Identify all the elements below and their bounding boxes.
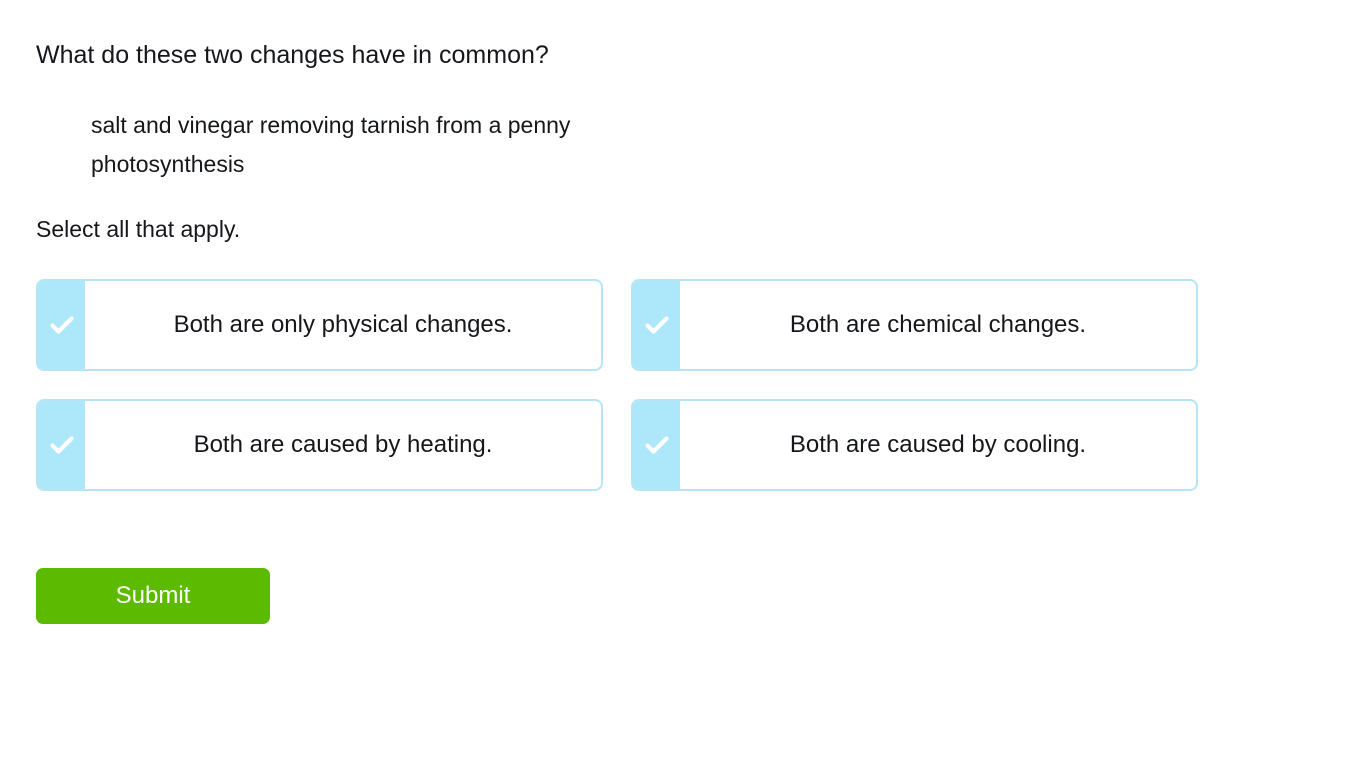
option-card-caused-by-cooling[interactable]: Both are caused by cooling.	[631, 399, 1198, 491]
changes-list: salt and vinegar removing tarnish from a…	[91, 106, 991, 184]
checkbox-indicator[interactable]	[38, 401, 85, 489]
options-grid: Both are only physical changes. Both are…	[36, 279, 1196, 491]
check-icon	[643, 311, 671, 339]
option-card-chemical-changes[interactable]: Both are chemical changes.	[631, 279, 1198, 371]
quiz-page: What do these two changes have in common…	[0, 0, 1366, 768]
option-label: Both are caused by heating.	[194, 431, 493, 459]
option-label: Both are chemical changes.	[790, 311, 1086, 339]
option-row: Both are only physical changes. Both are…	[36, 279, 1196, 371]
option-label: Both are only physical changes.	[174, 311, 513, 339]
checkbox-indicator[interactable]	[38, 281, 85, 369]
option-label-area: Both are caused by heating.	[85, 401, 601, 489]
list-item: photosynthesis	[91, 145, 991, 184]
checkbox-indicator[interactable]	[633, 281, 680, 369]
list-item: salt and vinegar removing tarnish from a…	[91, 106, 991, 145]
option-row: Both are caused by heating. Both are cau…	[36, 399, 1196, 491]
instruction-text: Select all that apply.	[36, 213, 240, 245]
checkbox-indicator[interactable]	[633, 401, 680, 489]
option-card-caused-by-heating[interactable]: Both are caused by heating.	[36, 399, 603, 491]
option-label-area: Both are only physical changes.	[85, 281, 601, 369]
question-title: What do these two changes have in common…	[36, 38, 549, 72]
option-label: Both are caused by cooling.	[790, 431, 1086, 459]
check-icon	[48, 311, 76, 339]
option-card-physical-changes[interactable]: Both are only physical changes.	[36, 279, 603, 371]
option-label-area: Both are caused by cooling.	[680, 401, 1196, 489]
check-icon	[643, 431, 671, 459]
check-icon	[48, 431, 76, 459]
submit-button[interactable]: Submit	[36, 568, 270, 624]
option-label-area: Both are chemical changes.	[680, 281, 1196, 369]
